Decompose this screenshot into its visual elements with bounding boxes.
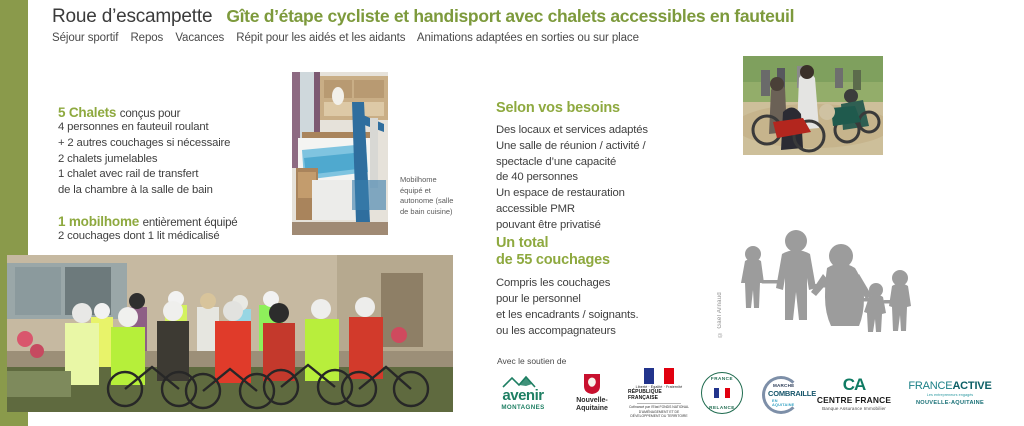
photo-cyclist-group	[7, 255, 453, 412]
needs-details: Des locaux et services adaptés Une salle…	[496, 123, 706, 234]
logo-marche-combraille[interactable]: MARCHE COMBRAILLE EN AQUITAINE	[754, 368, 806, 418]
marche-word: MARCHE	[773, 383, 794, 388]
photo-caption-mobilhome: Mobilhome équipé et autonome (salle de b…	[400, 175, 460, 218]
detail-line: de la chambre à la salle de bain	[58, 183, 283, 199]
detail-line: Compris les couchages	[496, 276, 711, 292]
logo-credit-agricole[interactable]: CA CENTRE FRANCE Banque Assurance Immobi…	[815, 368, 893, 418]
brand-name: Roue d’escampette	[52, 6, 212, 28]
avenir-word: avenir	[502, 388, 543, 403]
fa-region: NOUVELLE-AQUITAINE	[916, 400, 984, 406]
fa-wordmark: FRANCEACTIVE	[908, 380, 991, 392]
page-title: Gîte d’étape cycliste et handisport avec…	[226, 6, 794, 27]
chalets-lead-strong: 5 Chalets	[58, 105, 116, 120]
enaquitaine-word: EN AQUITAINE	[772, 399, 800, 407]
divider	[637, 403, 681, 404]
keyword-item: Vacances	[175, 32, 224, 44]
capacity-heading-line1: Un total	[496, 235, 711, 252]
combraille-mark: MARCHE COMBRAILLE EN AQUITAINE	[760, 374, 800, 412]
support-label: Avec le soutien de	[497, 356, 566, 366]
needs-heading: Selon vos besoins	[496, 100, 706, 116]
chalets-lead-tail: conçus pour	[120, 108, 180, 120]
logo-nouvelle-aquitaine[interactable]: Nouvelle- Aquitaine	[565, 368, 619, 418]
detail-line: 2 couchages dont 1 lit médicalisé	[58, 229, 283, 245]
french-flag-icon	[714, 388, 730, 398]
rf-funding: Cofinancé par l’Etat FONDS NATIONAL D’AM…	[628, 405, 690, 418]
fa-word1: FRANCE	[908, 380, 952, 392]
na-name: Nouvelle- Aquitaine	[576, 397, 608, 412]
title-row: Roue d’escampette Gîte d’étape cycliste …	[52, 6, 952, 28]
needs-column: Selon vos besoins Des locaux et services…	[496, 100, 706, 234]
detail-line: pour le personnel	[496, 292, 711, 308]
family-silhouette-illustration	[728, 228, 918, 348]
logo-republique-francaise[interactable]: Liberté · Égalité · Fraternité RÉPUBLIQU…	[628, 368, 690, 418]
ca-monogram: CA	[843, 376, 866, 393]
keyword-item: Animations adaptées en sorties ou sur pl…	[417, 32, 639, 44]
fa-slogan: Les entrepreneurs engagés	[927, 393, 973, 397]
detail-line: et les encadrants / soignants.	[496, 308, 711, 324]
shield-icon	[583, 373, 601, 395]
partner-logos: avenir MONTAGNES Nouvelle- Aquitaine Lib…	[490, 366, 998, 420]
fa-word2: ACTIVE	[952, 380, 991, 392]
detail-line: accessible PMR	[496, 202, 706, 218]
detail-line: spectacle d’une capacité	[496, 155, 706, 171]
keyword-item: Séjour sportif	[52, 32, 118, 44]
detail-line: ou les accompagnateurs	[496, 324, 711, 340]
french-flag-icon	[644, 368, 674, 384]
rf-name: RÉPUBLIQUE FRANÇAISE	[628, 389, 690, 401]
logo-france-relance[interactable]: FRANCE RELANCE	[699, 368, 745, 418]
relance-top: FRANCE	[711, 376, 733, 381]
accommodation-column: 5 Chalets conçus pour 4 personnes en fau…	[58, 105, 283, 245]
capacity-column: Un total de 55 couchages Compris les cou…	[496, 235, 711, 339]
header: Roue d’escampette Gîte d’étape cycliste …	[52, 6, 952, 44]
poster-canvas: Roue d’escampette Gîte d’étape cycliste …	[0, 0, 1024, 426]
mobilhome-details: 2 couchages dont 1 lit médicalisé	[58, 229, 283, 245]
relance-circle: FRANCE RELANCE	[701, 372, 743, 414]
keyword-item: Répit pour les aidés et les aidants	[236, 32, 405, 44]
detail-line: + 2 autres couchages si nécessaire	[58, 136, 283, 152]
detail-line: 4 personnes en fauteuil roulant	[58, 120, 283, 136]
capacity-heading: Un total de 55 couchages	[496, 235, 711, 269]
photo-mobilhome-bedroom	[292, 72, 388, 235]
mobilhome-lead-strong: 1 mobilhome	[58, 214, 139, 229]
ca-subtitle: Banque Assurance Immobilier	[822, 406, 886, 411]
ca-name: CENTRE FRANCE	[817, 395, 891, 405]
detail-line: de 40 personnes	[496, 170, 706, 186]
logo-france-active[interactable]: FRANCEACTIVE Les entrepreneurs engagés N…	[902, 368, 998, 418]
logo-avenir-montagnes[interactable]: avenir MONTAGNES	[490, 368, 556, 418]
relance-bottom: RELANCE	[709, 405, 735, 410]
detail-line: Une salle de réunion / activité /	[496, 139, 706, 155]
keyword-item: Repos	[130, 32, 163, 44]
mobilhome-lead-tail: entièrement équipé	[143, 217, 238, 229]
na-line1: Nouvelle-	[576, 397, 608, 405]
montagnes-word: MONTAGNES	[501, 404, 544, 411]
keyword-list: Séjour sportif Repos Vacances Répit pour…	[52, 32, 952, 44]
detail-line: pouvant être privatisé	[496, 218, 706, 234]
detail-line: Des locaux et services adaptés	[496, 123, 706, 139]
mobilhome-lead: 1 mobilhome entièrement équipé	[58, 214, 283, 229]
capacity-heading-line2: de 55 couchages	[496, 252, 711, 269]
combraille-word: COMBRAILLE	[768, 389, 816, 398]
photo-credit: © Gael Arnaud	[717, 292, 723, 337]
capacity-details: Compris les couchages pour le personnel …	[496, 276, 711, 339]
detail-line: 2 chalets jumelables	[58, 152, 283, 168]
na-line2: Aquitaine	[576, 405, 608, 413]
mobilhome-block: 1 mobilhome entièrement équipé 2 couchag…	[58, 214, 283, 245]
chalets-details: 4 personnes en fauteuil roulant + 2 autr…	[58, 120, 283, 199]
detail-line: 1 chalet avec rail de transfert	[58, 167, 283, 183]
photo-handbike-outing	[743, 56, 883, 155]
chalets-lead: 5 Chalets conçus pour	[58, 105, 283, 120]
detail-line: Un espace de restauration	[496, 186, 706, 202]
